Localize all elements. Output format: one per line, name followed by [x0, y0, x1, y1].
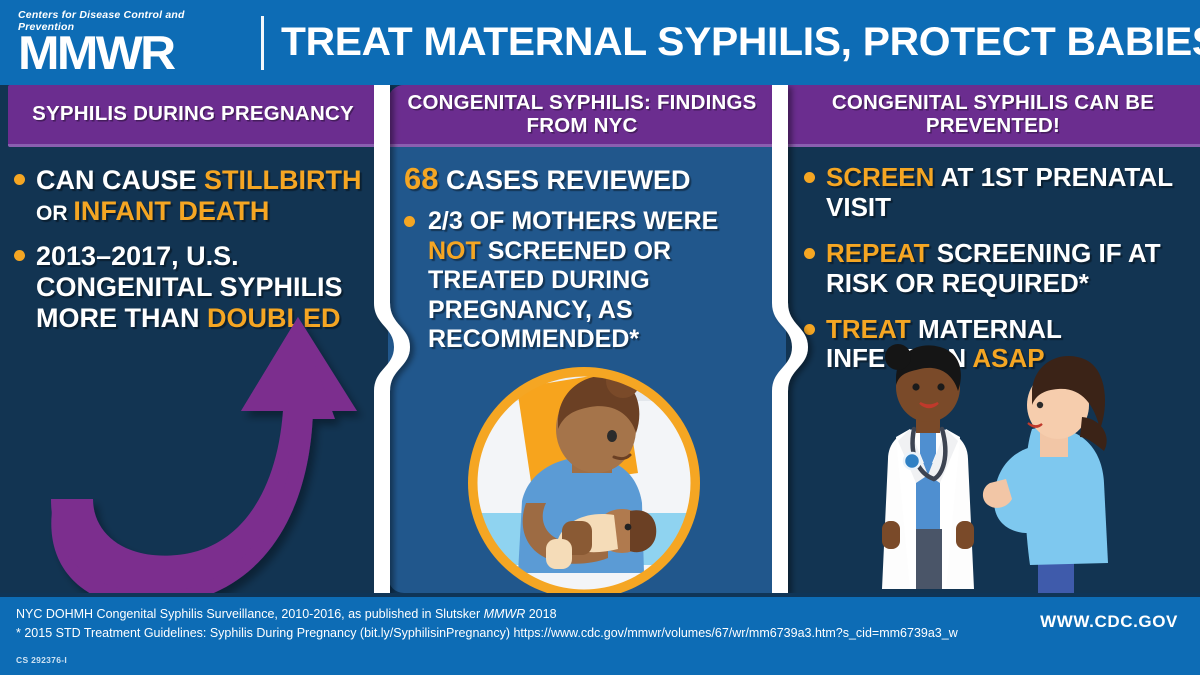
- upward-curved-arrow-icon: [45, 299, 375, 593]
- text-run: REPEAT: [826, 238, 930, 268]
- column-syphilis-during-pregnancy: SYPHILIS DURING PREGNANCY CAN CAUSE STIL…: [0, 85, 388, 593]
- bullet-text: 2/3 OF MOTHERS WERE NOT SCREENED OR TREA…: [428, 207, 718, 353]
- list-item: CAN CAUSE STILLBIRTH OR INFANT DEATH: [10, 165, 372, 227]
- column-2-bullet-list: 2/3 OF MOTHERS WERE NOT SCREENED OR TREA…: [400, 207, 768, 355]
- list-item: REPEAT SCREENING IF AT RISK OR REQUIRED*: [800, 239, 1186, 299]
- source-suffix: 2018: [525, 607, 556, 621]
- bullet-text: CAN CAUSE STILLBIRTH OR INFANT DEATH: [36, 165, 362, 226]
- column-findings-from-nyc: CONGENITAL SYPHILIS: FINDINGS FROM NYC 6…: [388, 85, 786, 593]
- source-journal: MMWR: [484, 607, 526, 621]
- text-run: 2/3 OF MOTHERS WERE: [428, 207, 718, 235]
- text-run: INFANT DEATH: [73, 196, 269, 226]
- mmwr-wordmark: MMWR: [18, 31, 254, 76]
- bullet-text: SCREEN AT 1ST PRENATAL VISIT: [826, 162, 1173, 222]
- header-divider-rule: [261, 16, 264, 70]
- page-header: Centers for Disease Control and Preventi…: [0, 0, 1200, 85]
- source-line: NYC DOHMH Congenital Syphilis Surveillan…: [16, 605, 958, 624]
- column-2-title: CONGENITAL SYPHILIS: FINDINGS FROM NYC: [402, 92, 762, 138]
- footer-top-rule: [0, 593, 1200, 597]
- source-prefix: NYC DOHMH Congenital Syphilis Surveillan…: [16, 607, 484, 621]
- column-3-content: SCREEN AT 1ST PRENATAL VISIT REPEAT SCRE…: [786, 147, 1200, 593]
- column-3-band: CONGENITAL SYPHILIS CAN BE PREVENTED!: [786, 85, 1200, 147]
- column-1-title: SYPHILIS DURING PREGNANCY: [32, 103, 354, 126]
- column-1-content: CAN CAUSE STILLBIRTH OR INFANT DEATH 201…: [0, 147, 388, 593]
- text-run: CAN CAUSE: [36, 165, 204, 195]
- column-2-band: CONGENITAL SYPHILIS: FINDINGS FROM NYC: [388, 85, 776, 147]
- footnote-line[interactable]: * 2015 STD Treatment Guidelines: Syphili…: [16, 624, 958, 643]
- cases-reviewed-lead: 68 CASES REVIEWED: [400, 161, 768, 197]
- footer-citation: NYC DOHMH Congenital Syphilis Surveillan…: [16, 605, 958, 644]
- infographic-body: SYPHILIS DURING PREGNANCY CAN CAUSE STIL…: [0, 85, 1200, 593]
- cdc-website-link[interactable]: WWW.CDC.GOV: [1040, 612, 1178, 632]
- cases-count: 68: [404, 161, 438, 196]
- bullet-text: REPEAT SCREENING IF AT RISK OR REQUIRED*: [826, 238, 1161, 298]
- text-run: NOT: [428, 237, 481, 265]
- column-can-be-prevented: CONGENITAL SYPHILIS CAN BE PREVENTED! SC…: [786, 85, 1200, 593]
- page-footer: NYC DOHMH Congenital Syphilis Surveillan…: [0, 593, 1200, 675]
- mother-holding-baby-illustration: [462, 353, 706, 593]
- column-1-band: SYPHILIS DURING PREGNANCY: [8, 85, 378, 147]
- column-3-title: CONGENITAL SYPHILIS CAN BE PREVENTED!: [800, 92, 1186, 138]
- text-run: SCREEN: [826, 162, 934, 192]
- doctor-and-pregnant-woman-illustration: [836, 333, 1196, 593]
- column-2-content: 68 CASES REVIEWED 2/3 OF MOTHERS WERE NO…: [388, 147, 786, 593]
- cs-number: CS 292376-I: [16, 655, 67, 665]
- list-item: 2/3 OF MOTHERS WERE NOT SCREENED OR TREA…: [400, 207, 768, 355]
- text-run: OR: [36, 202, 73, 225]
- list-item: SCREEN AT 1ST PRENATAL VISIT: [800, 163, 1186, 223]
- page-title: TREAT MATERNAL SYPHILIS, PROTECT BABIES: [281, 20, 1200, 65]
- mmwr-logo: Centers for Disease Control and Preventi…: [0, 9, 241, 76]
- cases-label: CASES REVIEWED: [438, 165, 690, 195]
- text-run: STILLBIRTH: [204, 165, 361, 195]
